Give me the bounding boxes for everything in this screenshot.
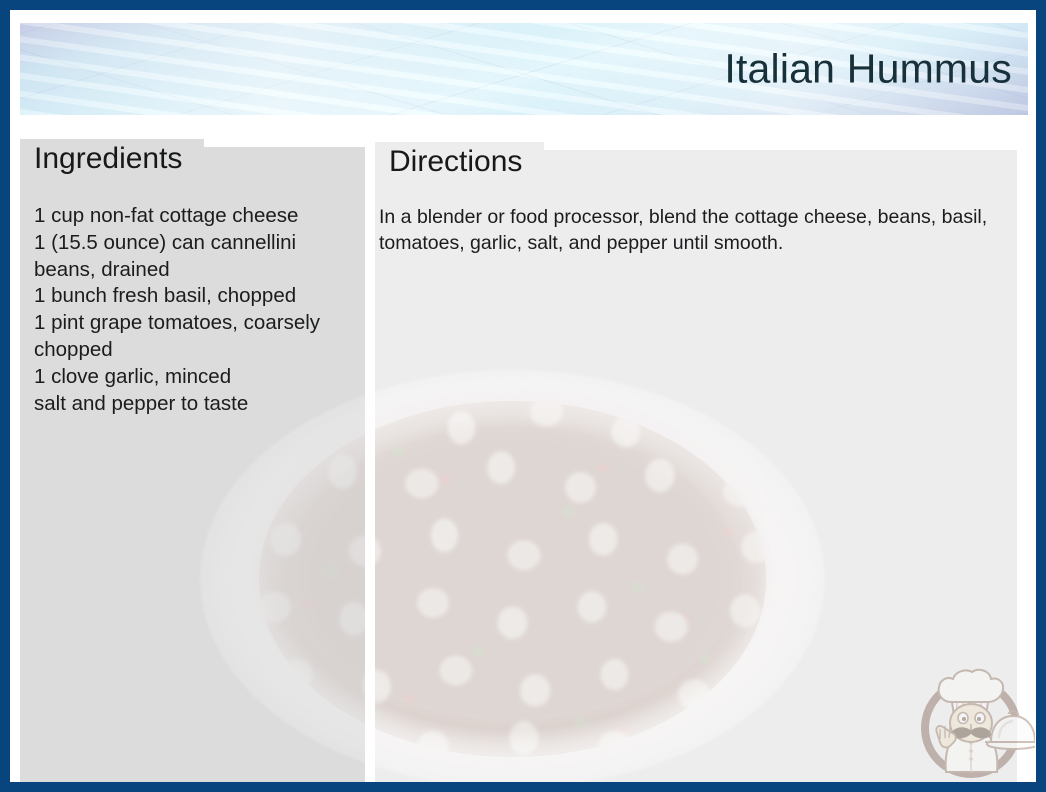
ingredients-list: 1 cup non-fat cottage cheese 1 (15.5 oun…: [34, 203, 352, 417]
page-title: Italian Hummus: [724, 46, 1012, 93]
section-header-directions: Directions: [375, 142, 544, 183]
list-item: 1 pint grape tomatoes, coarsely chopped: [34, 310, 352, 364]
panel-divider: [365, 147, 375, 782]
directions-text: In a blender or food processor, blend th…: [379, 204, 1004, 256]
list-item: 1 (15.5 ounce) can cannellini beans, dra…: [34, 230, 352, 284]
recipe-card: Italian Hummus Ingredients Directions 1 …: [0, 0, 1046, 792]
header-banner: Italian Hummus: [20, 23, 1028, 115]
list-item: 1 cup non-fat cottage cheese: [34, 203, 352, 230]
list-item: salt and pepper to taste: [34, 391, 352, 418]
recipe-page: Italian Hummus Ingredients Directions 1 …: [10, 10, 1036, 782]
section-header-ingredients: Ingredients: [20, 139, 204, 180]
list-item: 1 clove garlic, minced: [34, 364, 352, 391]
list-item: 1 bunch fresh basil, chopped: [34, 283, 352, 310]
